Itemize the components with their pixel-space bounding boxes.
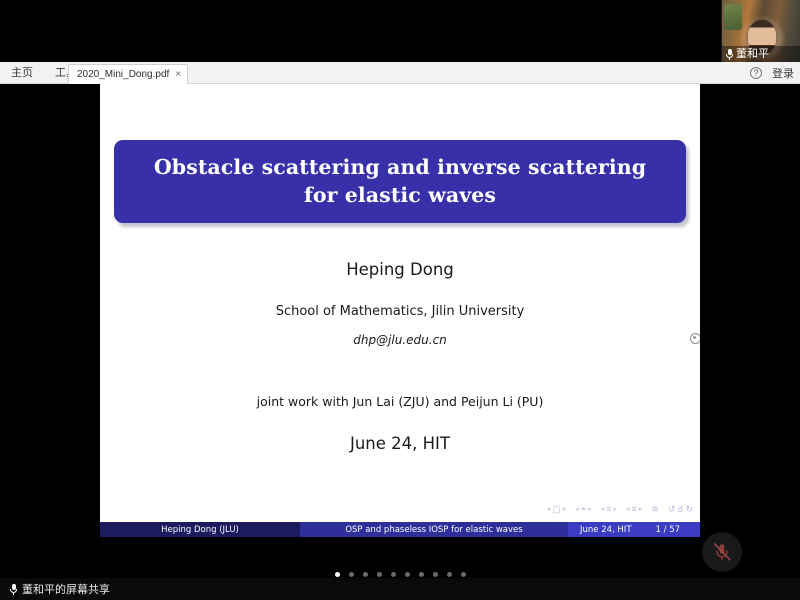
mute-toggle-button[interactable] (702, 532, 742, 572)
slide-title: Obstacle scattering and inverse scatteri… (154, 154, 646, 208)
video-frame-foliage (724, 4, 742, 30)
screen-share-status-bar: 董和平的屏幕共享 (0, 578, 800, 600)
nav-search-icon: ☌ (677, 505, 683, 514)
help-icon[interactable]: ? (750, 67, 762, 79)
footer-date: June 24, HIT (580, 525, 632, 535)
page-dot[interactable] (405, 572, 410, 577)
slide-author: Heping Dong (100, 260, 700, 279)
zoom-screen-share-view: 董和平 主页 工具 2020_Mini_Dong.pdf × ? 登录 Obst… (0, 0, 800, 600)
participant-name-overlay: 董和平 (722, 46, 800, 62)
pdf-slide-page[interactable]: Obstacle scattering and inverse scatteri… (100, 84, 700, 537)
page-dot[interactable] (419, 572, 424, 577)
microphone-muted-icon (711, 541, 733, 563)
participant-video-thumbnail[interactable]: 董和平 (721, 0, 800, 63)
page-dot[interactable] (461, 572, 466, 577)
slide-joint-work: joint work with Jun Lai (ZJU) and Peijun… (100, 394, 700, 409)
page-dot[interactable] (363, 572, 368, 577)
nav-doc-icon: ≋ (651, 505, 659, 514)
microphone-icon (726, 49, 733, 60)
footer-author: Heping Dong (JLU) (100, 522, 300, 537)
page-dot[interactable] (349, 572, 354, 577)
close-icon[interactable]: × (175, 70, 181, 80)
slide-date: June 24, HIT (100, 434, 700, 453)
slide-footer: Heping Dong (JLU) OSP and phaseless IOSP… (100, 522, 700, 537)
page-indicator-dots[interactable] (0, 572, 800, 577)
footer-page-number: 1 / 57 (656, 525, 681, 535)
screen-share-label: 董和平的屏幕共享 (22, 581, 110, 597)
footer-right: June 24, HIT 1 / 57 (568, 522, 700, 537)
slide-email: dhp@jlu.edu.cn (100, 333, 700, 347)
document-tab[interactable]: 2020_Mini_Dong.pdf × (68, 64, 188, 84)
participant-name-label: 董和平 (736, 49, 769, 60)
beamer-navigation-symbols[interactable]: ◂▢▸ ◂◓▸ ◂≡▸ ◂≡▸ ≋ ↺☌↻ (547, 503, 693, 515)
document-tab-label: 2020_Mini_Dong.pdf (77, 69, 169, 80)
page-dot[interactable] (391, 572, 396, 577)
page-dot[interactable] (377, 572, 382, 577)
menu-item-home[interactable]: 主页 (0, 62, 44, 84)
nav-back-icon: ↺ (668, 505, 676, 514)
microphone-icon (10, 584, 17, 595)
slide-title-box: Obstacle scattering and inverse scatteri… (114, 140, 686, 223)
nav-frame-icon: ◓ (581, 505, 586, 514)
acrobat-toolbar-right: ? 登录 (750, 62, 794, 84)
nav-subsection-icon: ≡ (606, 505, 611, 514)
mouse-cursor-indicator (690, 333, 700, 344)
nav-forward-icon: ↻ (685, 505, 693, 514)
sign-in-button[interactable]: 登录 (772, 65, 794, 81)
nav-slide-icon: ▢ (552, 505, 561, 514)
slide-affiliation: School of Mathematics, Jilin University (100, 304, 700, 319)
page-dot[interactable] (447, 572, 452, 577)
page-dot[interactable] (433, 572, 438, 577)
footer-title: OSP and phaseless IOSP for elastic waves (300, 522, 568, 537)
nav-section-icon: ≡ (632, 505, 637, 514)
page-dot[interactable] (335, 572, 340, 577)
acrobat-toolbar: 主页 工具 2020_Mini_Dong.pdf × ? 登录 (0, 62, 800, 84)
